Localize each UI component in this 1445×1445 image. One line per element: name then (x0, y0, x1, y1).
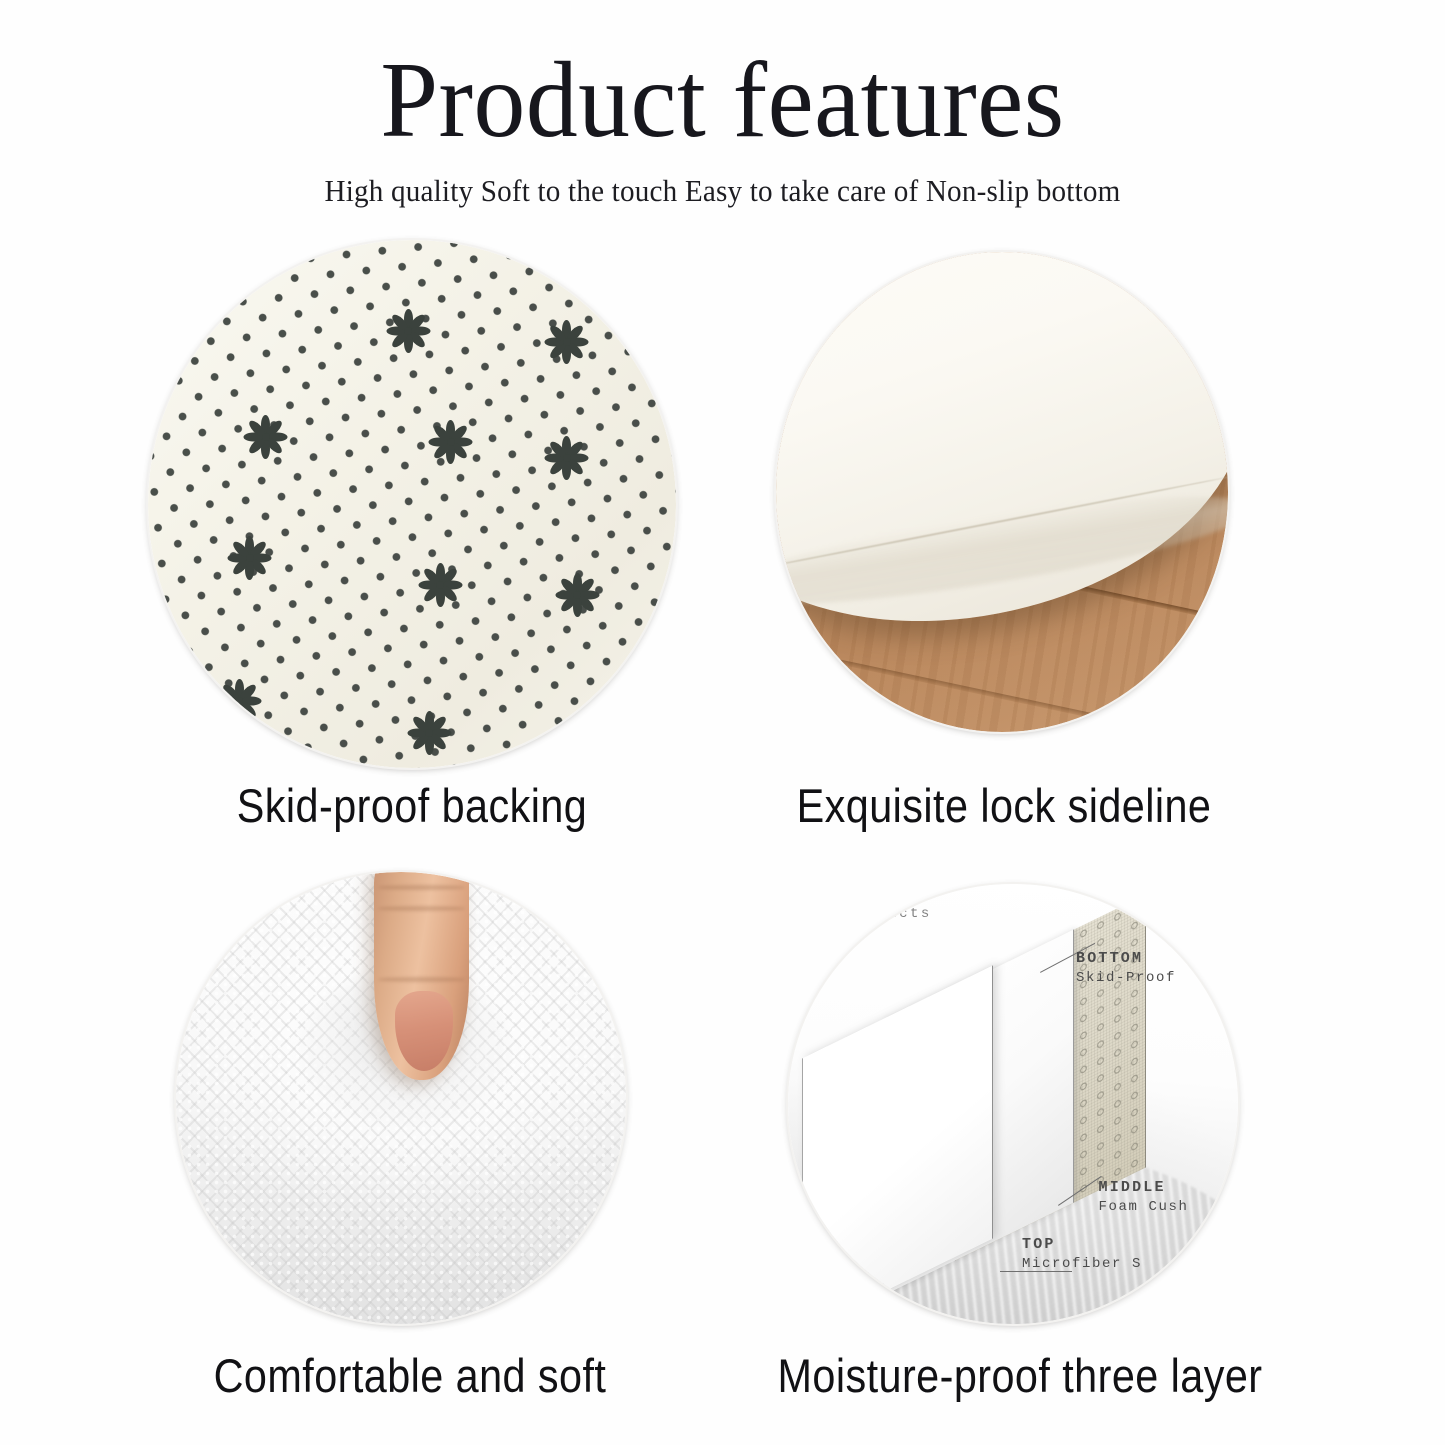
mat-on-wood-photo (776, 252, 1228, 732)
layer-label-middle: MIDDLE Foam Cush (1099, 1179, 1189, 1215)
finger (374, 872, 469, 1080)
finger-crease (378, 977, 465, 982)
flower-motif (539, 430, 595, 486)
layer-label-bottom-material: Skid-Proof (1076, 970, 1176, 986)
feature-caption-exquisite-lock-sideline: Exquisite lock sideline (793, 778, 1215, 833)
finger-crease (378, 885, 465, 890)
three-layer-diagram: roducts BOTTOM Skid-Proof MIDDLE Foam Cu… (788, 884, 1238, 1324)
product-features-infographic: Product features High quality Soft to th… (0, 0, 1445, 1445)
feature-caption-moisture-proof-three-layer: Moisture-proof three layer (774, 1348, 1267, 1403)
diagram-watermark-text: roducts (856, 906, 932, 922)
layer-label-middle-material: Foam Cush (1099, 1199, 1189, 1215)
flower-motif (380, 303, 436, 359)
fingertip (395, 991, 454, 1071)
feature-caption-comfortable-and-soft: Comfortable and soft (190, 1348, 630, 1403)
wood-plank-seam (776, 637, 1228, 732)
feature-image-comfortable-and-soft (176, 872, 626, 1324)
flower-motif (539, 314, 595, 370)
feature-caption-skid-proof-backing: Skid-proof backing (180, 778, 645, 833)
flower-motif (222, 530, 278, 586)
layer-label-top: TOP Microfiber S (1022, 1236, 1142, 1272)
flower-motif (423, 414, 479, 470)
layer-label-bottom-position: BOTTOM (1076, 950, 1176, 967)
finger-crease (378, 906, 465, 911)
flower-motif (211, 673, 267, 729)
feature-image-exquisite-lock-sideline (776, 252, 1228, 732)
flower-motif (401, 705, 457, 761)
page-subtitle: High quality Soft to the touch Easy to t… (43, 173, 1401, 209)
flower-motif (412, 557, 468, 613)
feature-image-moisture-proof-three-layer: roducts BOTTOM Skid-Proof MIDDLE Foam Cu… (788, 884, 1238, 1324)
layer-label-top-material: Microfiber S (1022, 1256, 1142, 1272)
layer-label-top-position: TOP (1022, 1236, 1142, 1253)
flower-motif (549, 567, 605, 623)
layer-label-middle-position: MIDDLE (1099, 1179, 1189, 1196)
flower-motif (560, 715, 616, 768)
skid-proof-fabric-photo (148, 240, 676, 768)
finger-press-photo (176, 872, 626, 1324)
flower-motif (238, 409, 294, 465)
page-title: Product features (29, 44, 1416, 157)
feature-image-skid-proof-backing (148, 240, 676, 768)
layer-label-bottom: BOTTOM Skid-Proof (1076, 950, 1176, 986)
